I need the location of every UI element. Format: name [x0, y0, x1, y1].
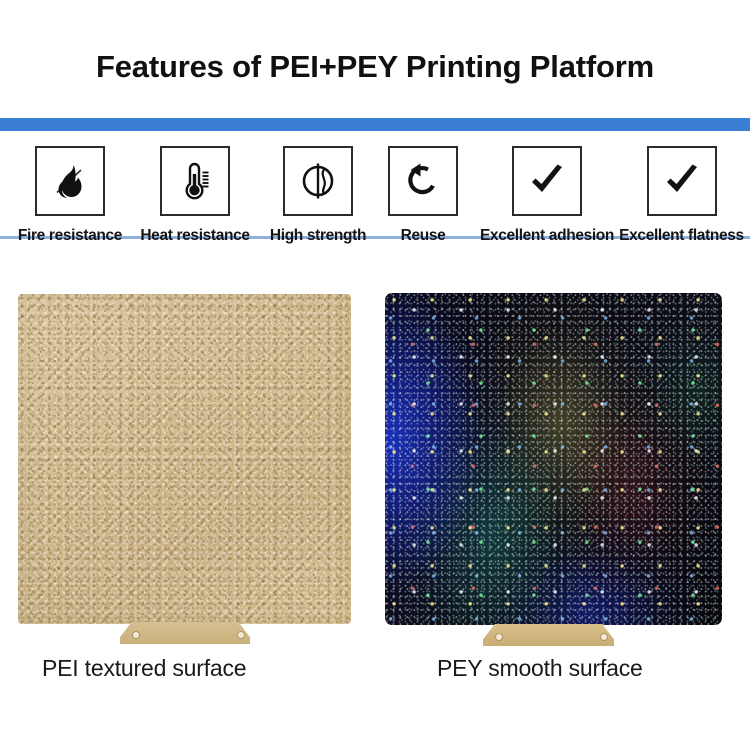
pei-tab-hole-left: [133, 632, 139, 638]
feature-fire-resistance: Fire resistance: [0, 146, 140, 245]
pey-tab-hole-left: [496, 634, 502, 640]
pey-plate-image: [385, 293, 722, 625]
pei-plate-image: [18, 294, 351, 624]
pei-plate-tab: [120, 622, 250, 644]
reuse-arrow-icon: [400, 158, 446, 204]
strength-icon-box: [283, 146, 353, 216]
checkmark-icon: [524, 158, 570, 204]
pey-tab-hole-right: [601, 634, 607, 640]
thermometer-icon: [172, 158, 218, 204]
strength-icon: [295, 158, 341, 204]
adhesion-checkmark-icon-box: [512, 146, 582, 216]
divider-bar: [0, 118, 750, 131]
product-feature-infographic: Features of PEI+PEY Printing Platform Fi…: [0, 0, 750, 750]
pey-plate-caption: PEY smooth surface: [437, 655, 643, 682]
feature-reuse: Reuse: [375, 146, 471, 245]
feature-label: Excellent flatness: [613, 227, 750, 245]
pei-plate-caption: PEI textured surface: [42, 655, 246, 682]
fire-resistance-icon-box: [35, 146, 105, 216]
feature-label: Reuse: [375, 227, 471, 245]
pey-plate-tab: [483, 624, 614, 646]
feature-excellent-flatness: Excellent flatness: [613, 146, 750, 245]
pei-tab-hole-right: [238, 632, 244, 638]
checkmark-icon: [659, 158, 705, 204]
pey-glitter-fine: [385, 293, 722, 625]
feature-high-strength: High strength: [249, 146, 387, 245]
pei-texture-overlay: [18, 294, 351, 624]
feature-label: High strength: [249, 227, 387, 245]
feature-label: Fire resistance: [0, 227, 140, 245]
reuse-arrow-icon-box: [388, 146, 458, 216]
feature-excellent-adhesion: Excellent adhesion: [462, 146, 632, 245]
page-title: Features of PEI+PEY Printing Platform: [0, 49, 750, 85]
thermometer-icon-box: [160, 146, 230, 216]
flatness-checkmark-icon-box: [647, 146, 717, 216]
feature-heat-resistance: Heat resistance: [124, 146, 266, 245]
feature-label: Excellent adhesion: [462, 227, 632, 245]
pey-glitter-sparks: [385, 293, 722, 625]
feature-label: Heat resistance: [124, 227, 266, 245]
feature-icon-row: Fire resistance Heat resis: [0, 146, 750, 256]
fire-resistance-icon: [47, 158, 93, 204]
